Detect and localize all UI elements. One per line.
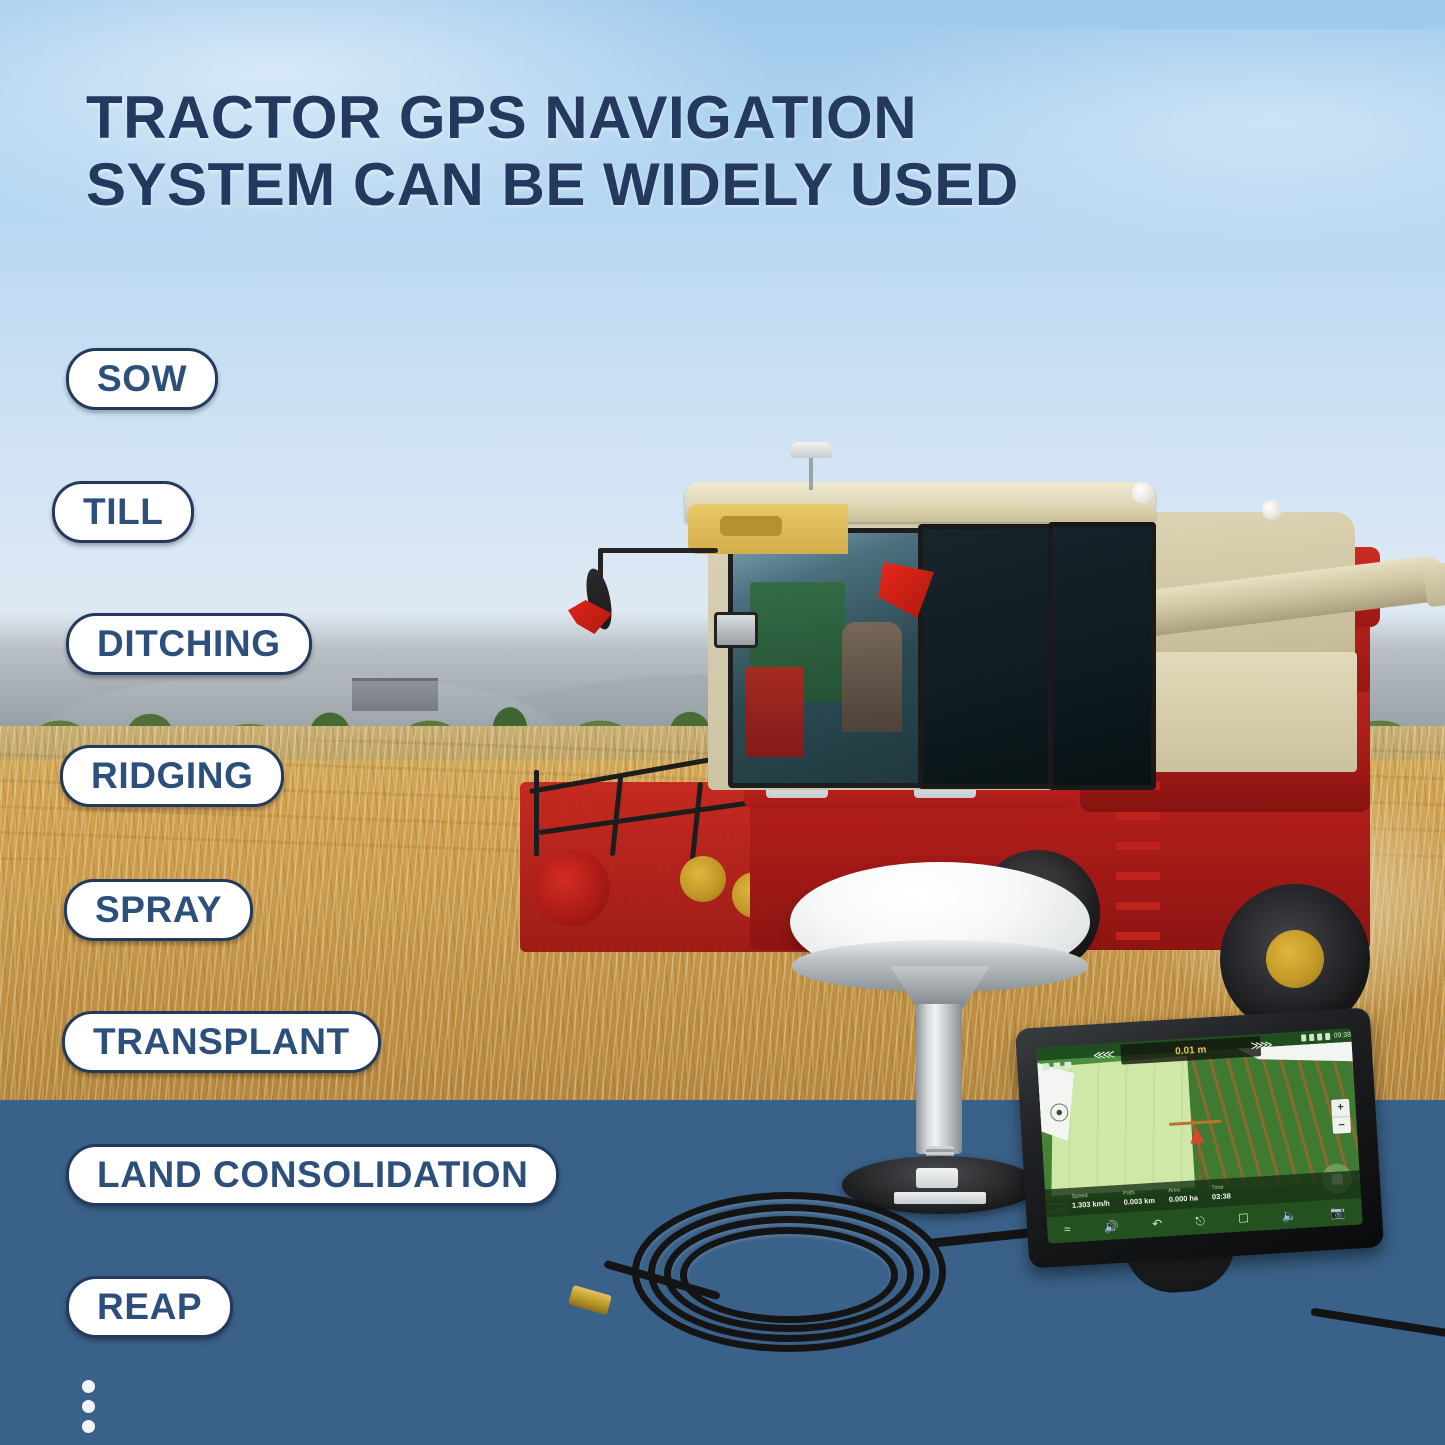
antenna-stem (916, 1004, 962, 1154)
use-case-pill-land-consolidation[interactable]: LAND CONSOLIDATION (66, 1144, 559, 1206)
coaxial-antenna-cable (610, 1180, 1090, 1370)
use-case-pill-ditching[interactable]: DITCHING (66, 613, 312, 675)
pill-label: LAND CONSOLIDATION (97, 1154, 528, 1196)
cabin-railing-top (598, 548, 718, 553)
rear-wheel-hub (1266, 930, 1324, 988)
zoom-in-button[interactable]: + (1331, 1099, 1350, 1118)
guidance-offset-value: 0.01 m (1175, 1044, 1207, 1057)
more-indicator-icon[interactable] (82, 1380, 95, 1433)
roof-gps-antenna-icon (790, 442, 832, 458)
use-case-pill-sow[interactable]: SOW (66, 348, 218, 410)
list-icon[interactable] (1064, 1062, 1071, 1069)
zoom-out-button[interactable]: − (1332, 1116, 1351, 1134)
pill-label: SOW (97, 358, 187, 400)
undo-icon[interactable]: ↶ (1152, 1216, 1163, 1231)
dot-2 (82, 1400, 95, 1413)
stat-area: Area 0.000 ha (1168, 1186, 1198, 1204)
antenna-dome-highlight (844, 876, 994, 920)
harvester-side-panel (1132, 652, 1357, 772)
stat-value: 0.000 ha (1169, 1193, 1199, 1204)
stat-speed: Speed 1.303 km/h (1071, 1192, 1110, 1210)
layers-icon[interactable]: ≈ (1064, 1222, 1071, 1236)
cabin-driver (842, 622, 902, 732)
pill-label: TILL (83, 491, 163, 533)
cabin-rear-glass (1048, 522, 1156, 790)
dot-3 (82, 1420, 95, 1433)
headline-line-2: SYSTEM CAN BE WIDELY USED (86, 151, 1116, 218)
cabin-door-glass (918, 524, 1058, 789)
flag-icon[interactable] (1053, 1062, 1060, 1069)
signal-icon (1301, 1034, 1306, 1041)
status-clock: 09:38 (1333, 1032, 1351, 1040)
use-case-pill-transplant[interactable]: TRANSPLANT (62, 1011, 381, 1073)
settings-icon[interactable] (1042, 1063, 1049, 1070)
speaker-icon[interactable]: 🔊 (1104, 1219, 1120, 1234)
cabin-control-panel (746, 667, 804, 757)
pill-label: SPRAY (95, 889, 222, 931)
pill-label: RIDGING (91, 755, 253, 797)
wifi-icon (1317, 1033, 1322, 1040)
stat-time: Time 03:38 (1211, 1184, 1231, 1201)
cabin-visor-vent (720, 516, 782, 536)
recent-icon[interactable]: ☐ (1238, 1211, 1250, 1226)
camera-icon[interactable]: 📷 (1330, 1205, 1346, 1220)
cabin-mirror-right (714, 612, 758, 648)
dot-1 (82, 1380, 95, 1393)
chevron-right-icon: ≫≫ (1250, 1038, 1270, 1053)
reel-pulley-red (534, 850, 610, 926)
pill-label: TRANSPLANT (93, 1021, 350, 1063)
roof-beacon-left (1132, 482, 1154, 504)
stat-value: 1.303 km/h (1072, 1199, 1110, 1210)
monitor-screen[interactable]: 09:38 ≪≪ 0.01 m ≫≫ + − Accuracy FLOAT (1036, 1029, 1362, 1244)
map-zoom-controls[interactable]: + − (1331, 1099, 1351, 1134)
satellite-icon (1309, 1034, 1314, 1041)
product-poster: TRACTOR GPS NAVIGATION SYSTEM CAN BE WID… (0, 0, 1445, 1445)
use-case-pill-spray[interactable]: SPRAY (64, 879, 253, 941)
chevron-left-icon: ≪≪ (1092, 1047, 1112, 1062)
use-case-pill-till[interactable]: TILL (52, 481, 194, 543)
stat-value: 0.003 km (1123, 1196, 1155, 1207)
headline-line-1: TRACTOR GPS NAVIGATION (86, 84, 1116, 151)
map-vehicle-marker (1189, 1127, 1204, 1144)
stat-value: 03:38 (1212, 1191, 1231, 1201)
cable-coil-inner (680, 1227, 898, 1323)
reel-pulley-a (680, 856, 726, 902)
home-icon[interactable]: ⎋ (1195, 1213, 1205, 1229)
battery-icon (1325, 1033, 1330, 1040)
volume-icon[interactable]: 🔈 (1282, 1208, 1298, 1223)
pill-label: REAP (97, 1286, 202, 1328)
stat-path: Path 0.003 km (1123, 1189, 1155, 1207)
gps-monitor: 09:38 ≪≪ 0.01 m ≫≫ + − Accuracy FLOAT (1022, 1018, 1392, 1318)
use-case-pill-reap[interactable]: REAP (66, 1276, 233, 1338)
page-title: TRACTOR GPS NAVIGATION SYSTEM CAN BE WID… (86, 84, 1116, 218)
roof-beacon-right (1262, 500, 1282, 520)
use-case-pill-ridging[interactable]: RIDGING (60, 745, 284, 807)
pill-label: DITCHING (97, 623, 281, 665)
